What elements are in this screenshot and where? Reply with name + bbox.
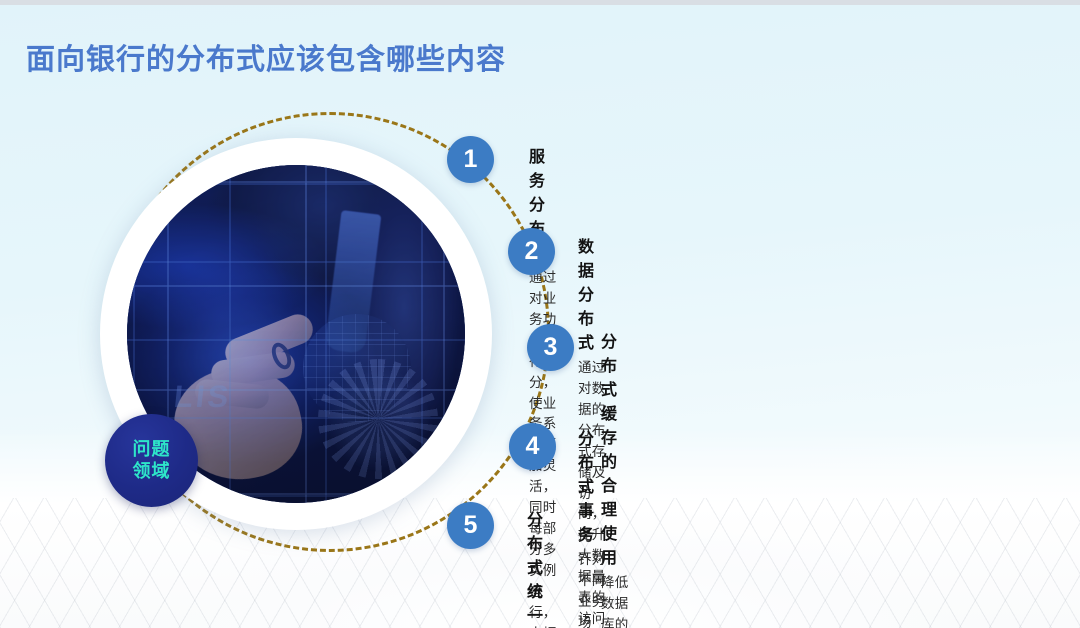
item-number-badge-2[interactable]: 2	[508, 228, 555, 275]
item-number-badge-1[interactable]: 1	[447, 136, 494, 183]
problem-domain-badge[interactable]: 问题 领域	[105, 414, 198, 507]
top-strip	[0, 0, 1080, 5]
page-title: 面向银行的分布式应该包含哪些内容	[26, 36, 506, 78]
item-number-badge-5[interactable]: 5	[447, 502, 494, 549]
slide-canvas: 面向银行的分布式应该包含哪些内容 LIS 问题 领域	[0, 0, 1080, 628]
item-heading-4: 分布式事务	[578, 425, 605, 545]
domain-badge-line-1: 问题	[133, 439, 171, 460]
item-heading-5: 分布式统一调度	[527, 506, 554, 628]
item-text-5: 分布式统一调度 协调多个分布式节点协同工作，有效控制日终处理时间。	[527, 506, 554, 628]
domain-badge-line-2: 领域	[133, 461, 171, 482]
item-body-4: 针对不同业务场景，提供切实可落地的方案，解决跨服务、 跨数据节点的事务一致性问题…	[578, 550, 605, 628]
item-number-badge-4[interactable]: 4	[509, 423, 556, 470]
item-text-4: 分布式事务 针对不同业务场景，提供切实可落地的方案，解决跨服务、 跨数据节点的事…	[578, 425, 605, 628]
item-number-badge-3[interactable]: 3	[527, 324, 574, 371]
